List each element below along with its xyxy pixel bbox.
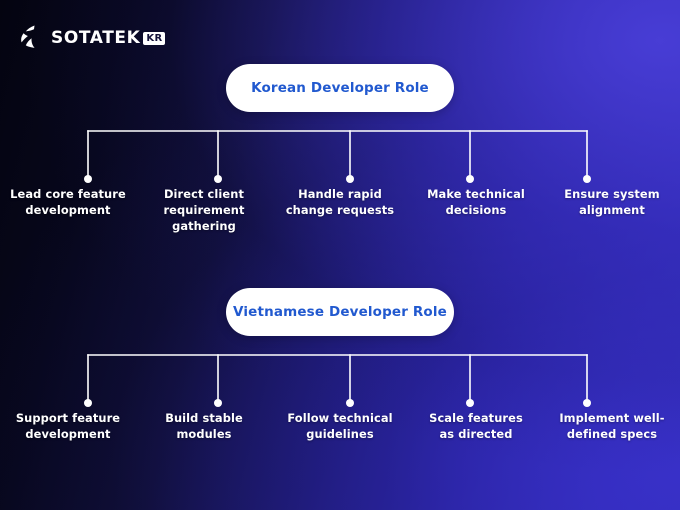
connector-tree-vietnamese — [0, 352, 680, 410]
brand-name-text: SOTATEK — [51, 28, 140, 48]
leaf-item: Handle rapid change requests — [272, 186, 408, 235]
leaf-item: Make technical decisions — [408, 186, 544, 235]
brand-logo: SOTATEKKR — [18, 24, 165, 52]
leaf-label: Build stable modules — [140, 410, 268, 442]
leaf-label: Scale features as directed — [412, 410, 540, 442]
role-card-vietnamese[interactable]: Vietnamese Developer Role — [226, 288, 454, 336]
leaf-item: Follow technical guidelines — [272, 410, 408, 442]
leaf-item: Build stable modules — [136, 410, 272, 442]
leaf-label: Direct client requirement gathering — [140, 186, 268, 235]
role-card-korean[interactable]: Korean Developer Role — [226, 64, 454, 112]
connector-tree-korean — [0, 128, 680, 186]
leaf-list-vietnamese: Support feature development Build stable… — [0, 410, 680, 442]
leaf-label: Handle rapid change requests — [276, 186, 404, 218]
brand-name: SOTATEKKR — [51, 30, 165, 47]
leaf-item: Direct client requirement gathering — [136, 186, 272, 235]
leaf-item: Ensure system alignment — [544, 186, 680, 235]
role-card-vietnamese-title: Vietnamese Developer Role — [233, 304, 447, 320]
leaf-item: Scale features as directed — [408, 410, 544, 442]
leaf-label: Ensure system alignment — [548, 186, 676, 218]
leaf-label: Implement well- defined specs — [548, 410, 676, 442]
brand-region-badge: KR — [143, 32, 165, 45]
leaf-item: Lead core feature development — [0, 186, 136, 235]
sotatek-logomark-icon — [18, 24, 44, 52]
leaf-label: Make technical decisions — [412, 186, 540, 218]
role-card-korean-title: Korean Developer Role — [251, 80, 429, 96]
leaf-list-korean: Lead core feature development Direct cli… — [0, 186, 680, 235]
infographic-canvas: SOTATEKKR Korean Developer Role — [0, 0, 680, 510]
leaf-label: Lead core feature development — [4, 186, 132, 218]
leaf-item: Support feature development — [0, 410, 136, 442]
leaf-label: Support feature development — [4, 410, 132, 442]
leaf-label: Follow technical guidelines — [276, 410, 404, 442]
leaf-item: Implement well- defined specs — [544, 410, 680, 442]
